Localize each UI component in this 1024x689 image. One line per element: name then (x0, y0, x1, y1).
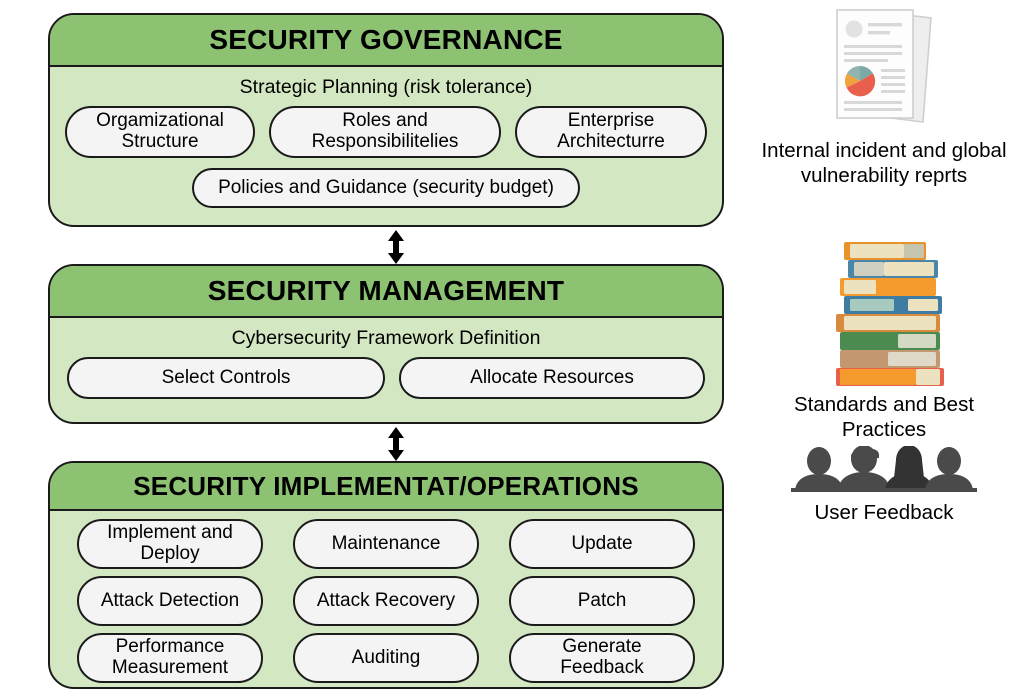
panel-security-management: SECURITY MANAGEMENT Cybersecurity Framew… (48, 264, 724, 424)
panel-subtitle-strategic-planning: Strategic Planning (risk tolerance) (64, 67, 708, 106)
panel-header-security-implementation-operations: SECURITY IMPLEMENTAT/OPERATIONS (50, 463, 722, 511)
pill-implement-and-deploy[interactable]: Implement and Deploy (77, 519, 263, 569)
panel-body-security-management: Cybersecurity Framework Definition Selec… (50, 318, 722, 399)
pill-select-controls[interactable]: Select Controls (67, 357, 385, 399)
pill-allocate-resources[interactable]: Allocate Resources (399, 357, 705, 399)
panel-header-security-governance: SECURITY GOVERNANCE (50, 15, 722, 67)
panel-body-security-governance: Strategic Planning (risk tolerance) Orga… (50, 67, 722, 208)
pill-row: Performance Measurement Auditing Generat… (64, 633, 708, 683)
pill-roles-and-responsibilities[interactable]: Roles and Responsibilitelies (269, 106, 501, 158)
pill-patch[interactable]: Patch (509, 576, 695, 626)
pill-attack-detection[interactable]: Attack Detection (77, 576, 263, 626)
pill-row: Attack Detection Attack Recovery Patch (64, 576, 708, 626)
caption-feedback: User Feedback (754, 500, 1014, 525)
caption-reports: Internal incident and global vulnerabili… (754, 138, 1014, 188)
external-input-feedback: User Feedback (754, 446, 1014, 525)
pill-auditing[interactable]: Auditing (293, 633, 479, 683)
connector-governance-to-management (386, 230, 406, 264)
pill-maintenance[interactable]: Maintenance (293, 519, 479, 569)
panel-header-security-management: SECURITY MANAGEMENT (50, 266, 722, 318)
panel-body-security-implementation-operations: Implement and Deploy Maintenance Update … (50, 511, 722, 683)
book-stack-icon (754, 238, 1014, 388)
pill-performance-measurement[interactable]: Performance Measurement (77, 633, 263, 683)
pill-organizational-structure[interactable]: Orgamizational Structure (65, 106, 255, 158)
panel-security-implementation-operations: SECURITY IMPLEMENTAT/OPERATIONS Implemen… (48, 461, 724, 689)
pill-row: Orgamizational Structure Roles and Respo… (64, 106, 708, 158)
pill-generate-feedback[interactable]: Generate Feedback (509, 633, 695, 683)
pill-row: Implement and Deploy Maintenance Update (64, 519, 708, 569)
connector-management-to-operations (386, 427, 406, 461)
pill-enterprise-architecture[interactable]: Enterprise Architecturre (515, 106, 707, 158)
user-group-icon (754, 446, 1014, 492)
document-report-icon (754, 4, 1014, 134)
pill-attack-recovery[interactable]: Attack Recovery (293, 576, 479, 626)
pill-policies-and-guidance[interactable]: Policies and Guidance (security budget) (192, 168, 580, 208)
pill-row: Policies and Guidance (security budget) (64, 168, 708, 208)
external-input-standards: Standards and Best Practices (754, 238, 1014, 442)
pill-row: Select Controls Allocate Resources (64, 357, 708, 399)
pill-update[interactable]: Update (509, 519, 695, 569)
external-input-reports: Internal incident and global vulnerabili… (754, 4, 1014, 188)
panel-security-governance: SECURITY GOVERNANCE Strategic Planning (… (48, 13, 724, 227)
panel-subtitle-cybersecurity-framework-definition: Cybersecurity Framework Definition (64, 318, 708, 357)
caption-standards: Standards and Best Practices (754, 392, 1014, 442)
